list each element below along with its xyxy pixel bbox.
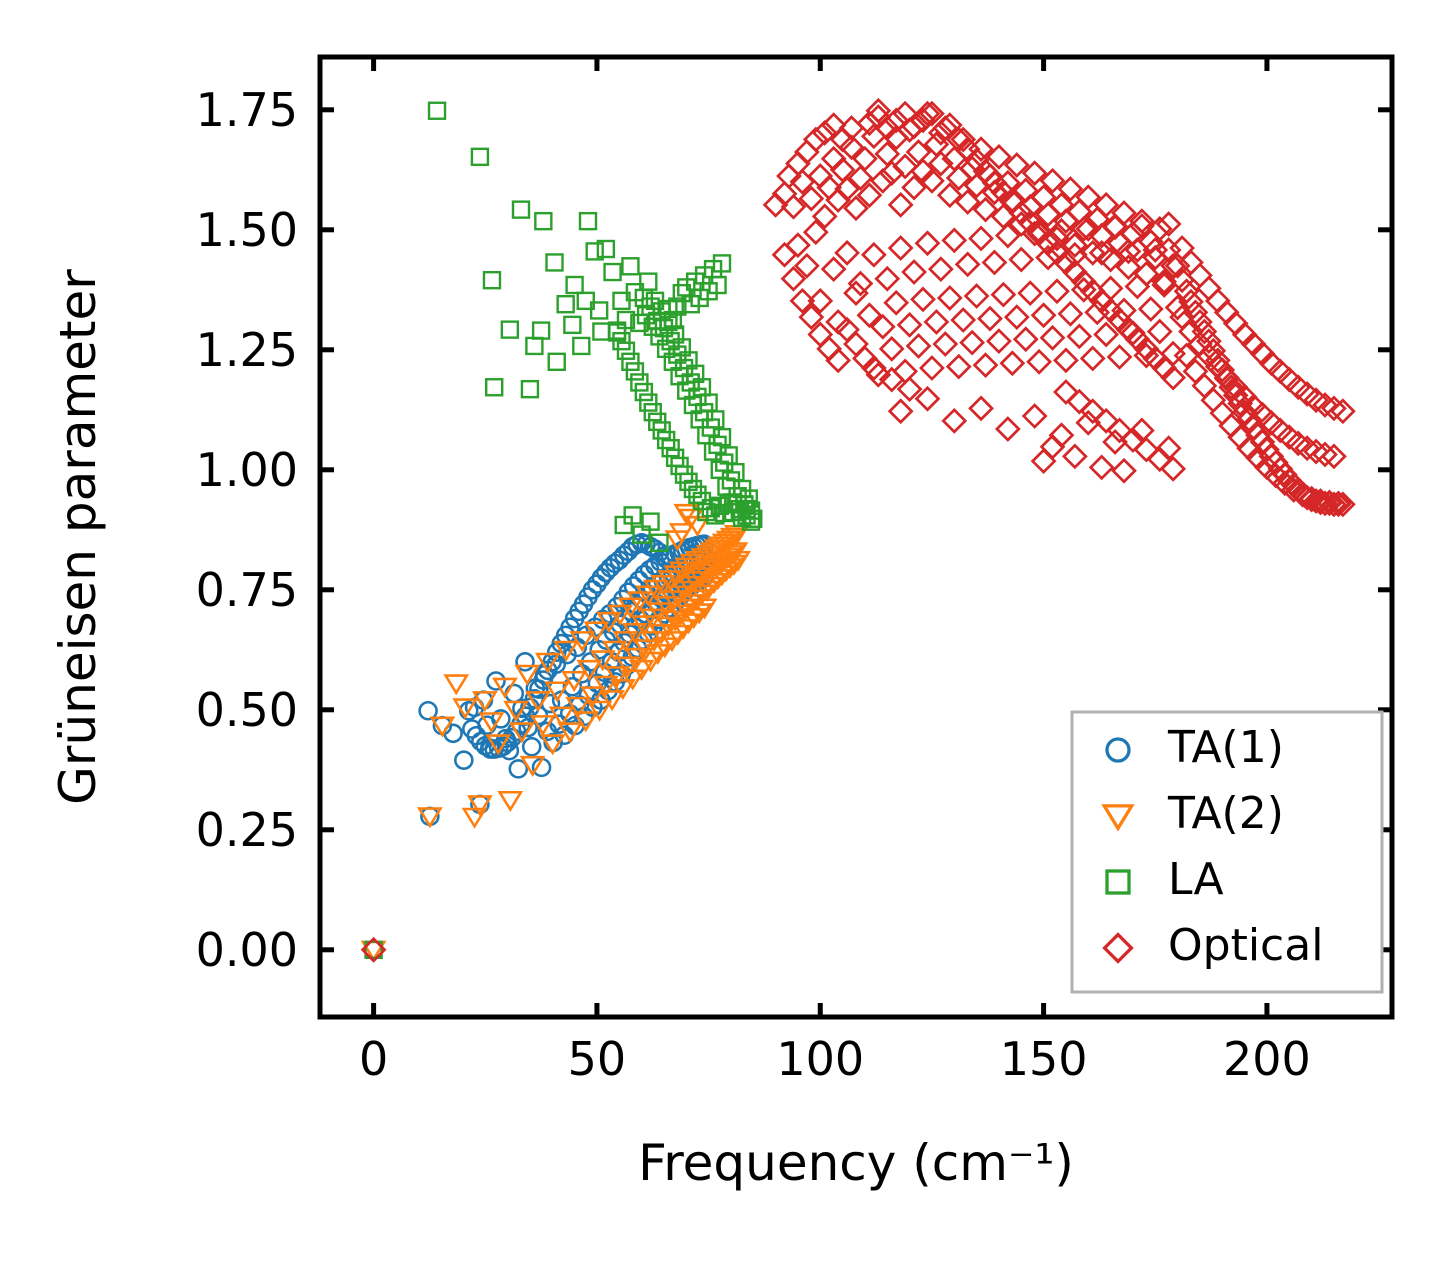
y-tick-labels: 0.000.250.500.751.001.251.501.75 [196,83,298,977]
y-tick-label: 1.00 [196,443,298,497]
y-tick-label: 1.25 [196,323,298,377]
x-tick-labels: 050100150200 [359,1032,1311,1086]
series-la [366,103,762,958]
plot-canvas: 050100150200 0.000.250.500.751.001.251.5… [0,0,1450,1264]
x-axis-title: Frequency (cm⁻¹) [638,1134,1074,1192]
x-tick-label: 0 [359,1032,388,1086]
x-tick-label: 100 [776,1032,864,1086]
y-axis-title: Grüneisen parameter [49,269,107,805]
y-tick-label: 1.75 [196,83,298,137]
legend-label: LA [1168,854,1224,905]
y-tick-label: 1.50 [196,203,298,257]
x-tick-label: 50 [568,1032,627,1086]
legend[interactable]: TA(1)TA(2)LAOptical [1072,712,1382,992]
y-tick-label: 0.75 [196,563,298,617]
y-tick-label: 0.50 [196,683,298,737]
y-tick-label: 0.25 [196,803,298,857]
legend-label: TA(1) [1167,722,1284,773]
y-tick-label: 0.00 [196,923,298,977]
legend-label: TA(2) [1167,788,1284,839]
x-tick-label: 200 [1223,1032,1311,1086]
legend-label: Optical [1168,920,1323,971]
grueneisen-scatter-figure: 050100150200 0.000.250.500.751.001.251.5… [0,0,1450,1264]
x-tick-label: 150 [1000,1032,1088,1086]
